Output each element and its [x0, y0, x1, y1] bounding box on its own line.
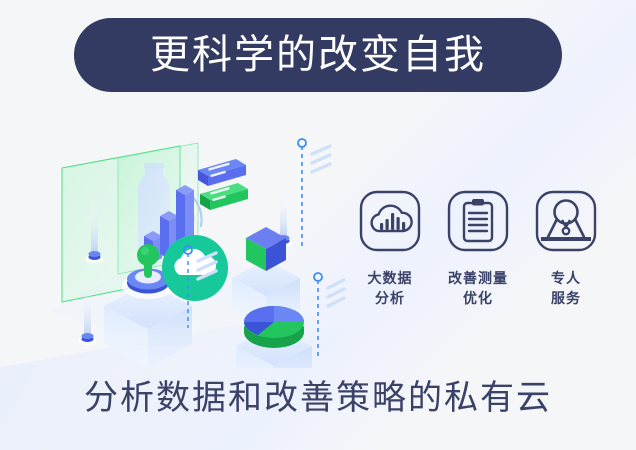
dashed-connector-right-top [298, 139, 330, 250]
tagline-text: 分析数据和改善策略的私有云 [84, 378, 552, 419]
isometric-pie-chart [244, 306, 304, 348]
page-title: 更科学的改变自我 [150, 35, 486, 75]
feature-label-service: 专人 服务 [551, 268, 581, 308]
green-label-card [200, 183, 248, 210]
blue-label-card [198, 159, 246, 186]
cloud-bar-chart-icon [359, 190, 421, 252]
feature-item-service[interactable]: 专人 服务 [528, 190, 604, 308]
isometric-data-platform-illustration [40, 128, 350, 368]
feature-item-measurement[interactable]: 改善测量 优化 [440, 190, 516, 308]
support-agent-icon [535, 190, 597, 252]
clipboard-icon [447, 190, 509, 252]
feature-item-big-data[interactable]: 大数据 分析 [352, 190, 428, 308]
title-banner: 更科学的改变自我 [74, 18, 562, 92]
feature-label-big-data: 大数据 分析 [368, 268, 413, 308]
feature-list: 大数据 分析 改善测量 优化 [352, 190, 604, 335]
tagline-container: 分析数据和改善策略的私有云 [0, 378, 636, 419]
cloud-badge [162, 235, 228, 301]
feature-label-measurement: 改善测量 优化 [448, 268, 508, 308]
promo-banner-page: 更科学的改变自我 [0, 0, 636, 450]
title-banner-container: 更科学的改变自我 [0, 18, 636, 92]
